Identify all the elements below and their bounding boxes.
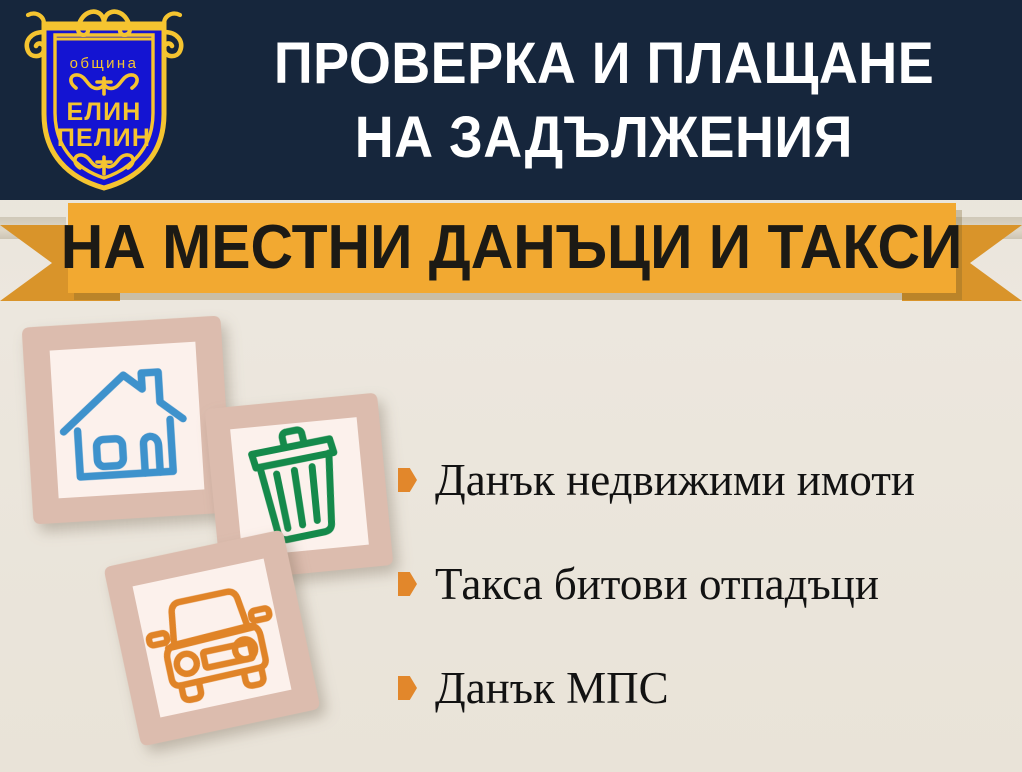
list-item[interactable]: Данък МПС: [398, 636, 1008, 740]
tax-type-list: Данък недвижими имоти Такса битови отпад…: [398, 428, 1008, 740]
svg-text:община: община: [70, 55, 139, 72]
crest-icon: община ЕЛИН ПЕЛИН: [18, 2, 190, 194]
ribbon-center: НА МЕСТНИ ДАНЪЦИ И ТАКСИ: [68, 203, 956, 293]
svg-text:ЕЛИН: ЕЛИН: [66, 98, 141, 126]
list-item-label: Такса битови отпадъци: [435, 559, 879, 609]
header-title-line-1: ПРОВЕРКА И ПЛАЩАНЕ: [274, 27, 934, 101]
arrow-bullet-icon: [398, 676, 417, 700]
arrow-bullet-icon: [398, 572, 417, 596]
list-item[interactable]: Такса битови отпадъци: [398, 532, 1008, 636]
header-title-line-2: НА ЗАДЪЛЖЕНИЯ: [355, 101, 853, 175]
list-item-label: Данък МПС: [435, 663, 669, 713]
ribbon-text: НА МЕСТНИ ДАНЪЦИ И ТАКСИ: [61, 217, 963, 279]
stamp-card-car: [93, 519, 330, 756]
list-item-label: Данък недвижими имоти: [435, 455, 915, 505]
poster-canvas: община ЕЛИН ПЕЛИН ПРОВЕРКА И ПЛАЩАНЕ НА …: [0, 0, 1022, 772]
municipality-crest: община ЕЛИН ПЕЛИН: [18, 2, 190, 194]
car-stamp-svg: [93, 519, 330, 756]
svg-text:ПЕЛИН: ПЕЛИН: [57, 124, 151, 152]
ribbon-banner: НА МЕСТНИ ДАНЪЦИ И ТАКСИ: [0, 203, 1022, 301]
list-item[interactable]: Данък недвижими имоти: [398, 428, 1008, 532]
header-title: ПРОВЕРКА И ПЛАЩАНЕ НА ЗАДЪЛЖЕНИЯ: [196, 12, 1012, 190]
arrow-bullet-icon: [398, 468, 417, 492]
